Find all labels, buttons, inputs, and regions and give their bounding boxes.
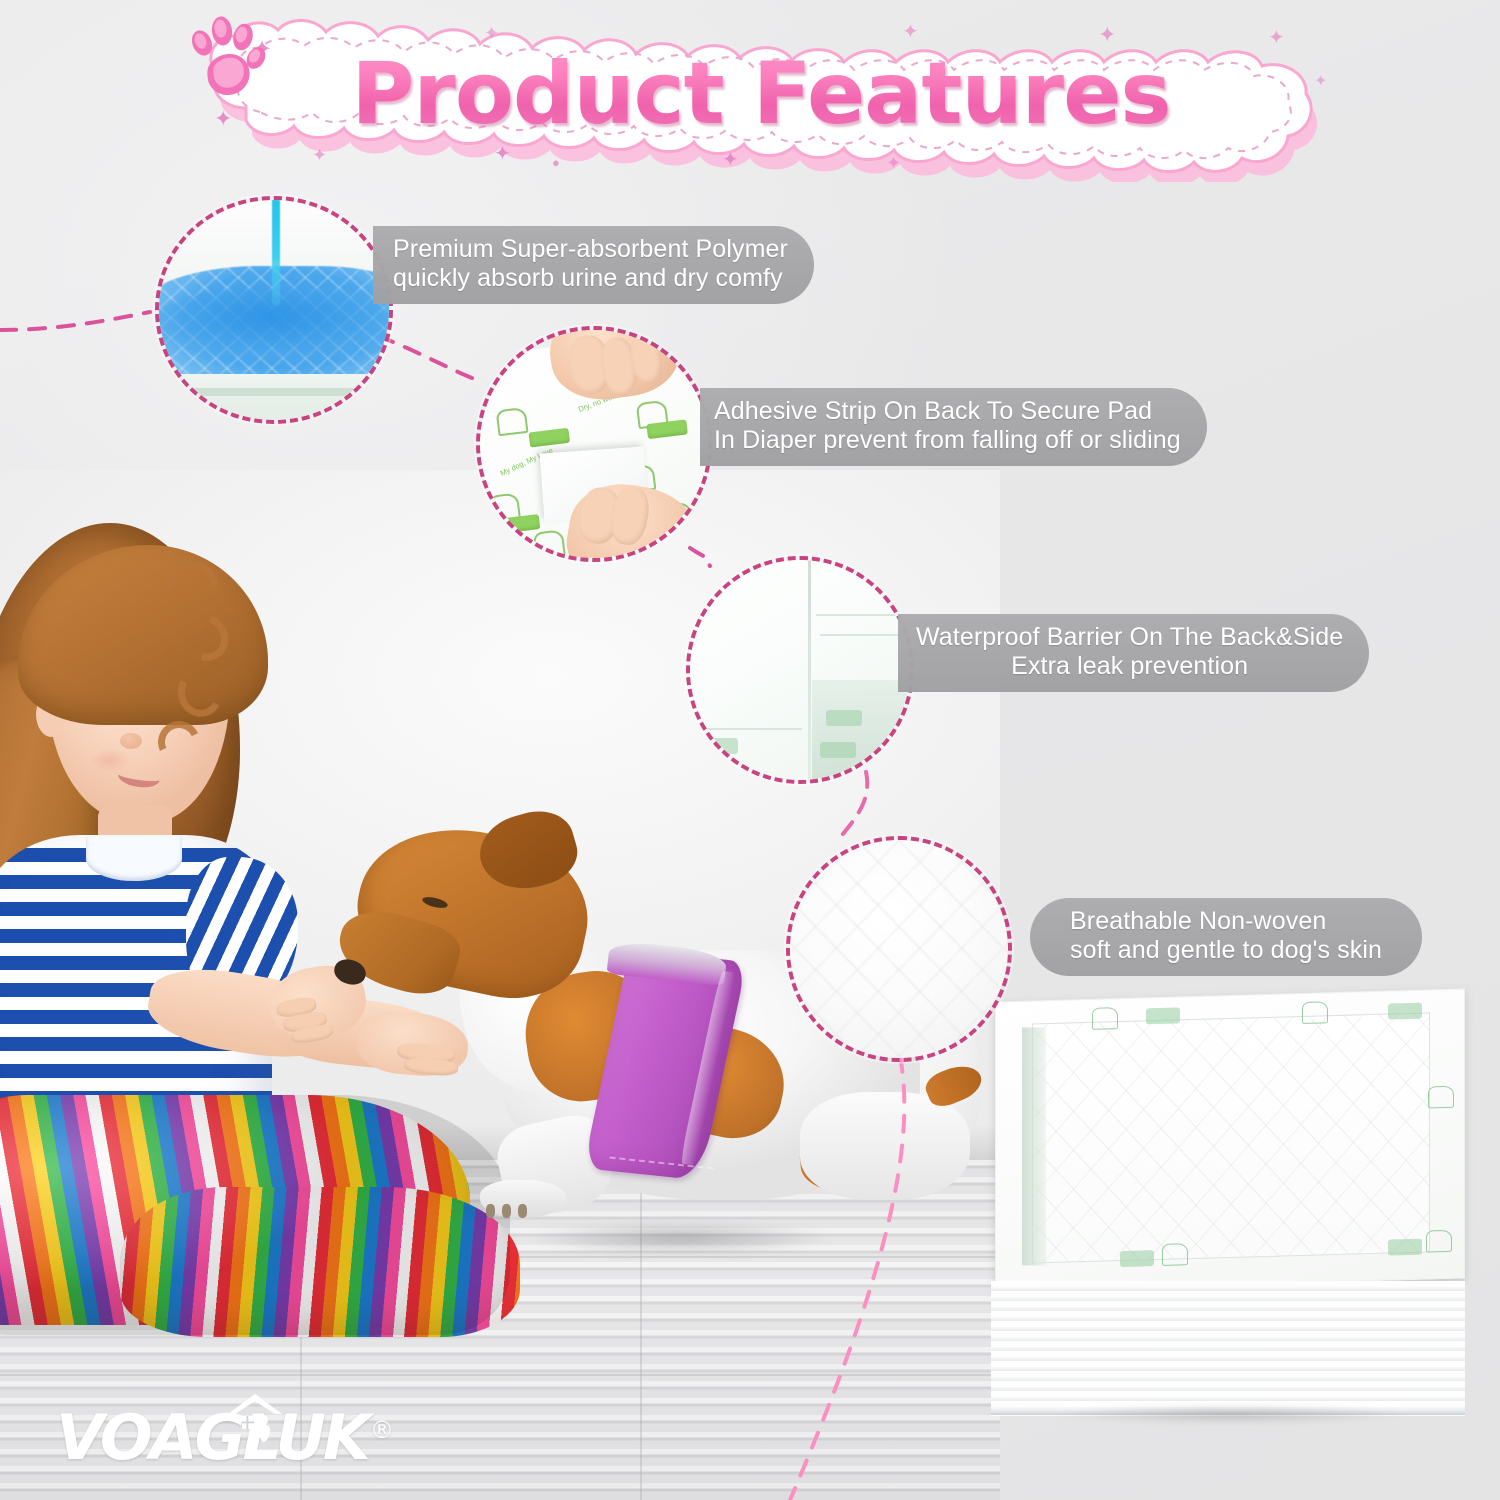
feature-photo-absorbent-polymer xyxy=(155,196,393,424)
brand-logo: VOAGLUK ® xyxy=(56,1392,356,1474)
pad-side-barrier xyxy=(812,680,910,780)
callout-line-1: Breathable Non-woven xyxy=(1070,907,1326,935)
callout-line-1: Waterproof Barrier On The Back&Side xyxy=(916,623,1343,651)
pad-fold-line xyxy=(808,560,811,780)
feature-photo-breathable-nonwoven xyxy=(786,836,1012,1062)
pad-base-layer xyxy=(159,374,389,420)
pad-print-tag xyxy=(1146,1007,1180,1024)
paw-print-icon xyxy=(182,16,268,98)
pad-print-tag xyxy=(820,742,856,758)
dog-hind-leg xyxy=(800,1092,970,1200)
callout-line-1: Adhesive Strip On Back To Secure Pad xyxy=(714,397,1152,425)
header-banner: ✦ ✦ ✦ ✦ ✦ ● ✦ ✦ ✦ ✦ ✦ ✦ Product Features xyxy=(186,16,1336,182)
registered-trademark-symbol: ® xyxy=(370,1416,394,1444)
pad-print-tag xyxy=(702,738,738,754)
pad-print-tag xyxy=(826,710,862,726)
callout-absorbent-polymer: Premium Super-absorbent Polymer quickly … xyxy=(373,226,814,304)
pad-quilted-center xyxy=(1032,1012,1430,1263)
dog-claw xyxy=(502,1204,511,1218)
pad-print-dog-icon xyxy=(1302,1001,1328,1024)
banner-title-row: Product Features xyxy=(186,16,1336,182)
callout-breathable-nonwoven: Breathable Non-woven soft and gentle to … xyxy=(1030,898,1422,976)
pad-stack-product xyxy=(985,995,1475,1420)
print-dog-icon xyxy=(533,529,566,558)
feature-photo-adhesive-strip: My dog, My Love Dry, no wet! Feel Dri-te… xyxy=(476,326,712,562)
print-tag xyxy=(528,428,570,448)
callout-line-2: In Diaper prevent from falling off or sl… xyxy=(714,426,1181,455)
dog-claw xyxy=(518,1204,527,1218)
dog-claw xyxy=(486,1204,495,1218)
callout-line-1: Premium Super-absorbent Polymer xyxy=(393,235,788,263)
infographic-canvas: My dog, My Love Dry, no wet! Feel Dri-te… xyxy=(0,0,1500,1500)
pad-print-dog-icon xyxy=(1426,1230,1452,1253)
pad-print-tag xyxy=(1388,1003,1422,1020)
pad-print-tag xyxy=(1120,1250,1154,1267)
feature-photo-waterproof-barrier xyxy=(686,556,914,784)
house-roof-paw-icon xyxy=(224,1390,286,1448)
pad-crease xyxy=(816,614,910,616)
pad-crease xyxy=(820,634,908,636)
pad-adhesive-strip xyxy=(1022,1027,1046,1265)
pad-print-dog-icon xyxy=(1092,1007,1118,1030)
callout-line-2: Extra leak prevention xyxy=(916,652,1343,681)
callout-adhesive-strip: Adhesive Strip On Back To Secure Pad In … xyxy=(700,388,1207,466)
stack-shadow xyxy=(985,1403,1477,1431)
brand-name: VOAGLUK xyxy=(56,1401,368,1474)
girl-nose xyxy=(120,733,142,749)
top-pad xyxy=(995,988,1465,1291)
callout-line-2: soft and gentle to dog's skin xyxy=(1070,936,1382,965)
pad-print-dog-icon xyxy=(1428,1086,1454,1109)
girl-collar xyxy=(86,837,182,881)
print-dog-icon xyxy=(496,407,529,436)
pad-print-dog-icon xyxy=(1162,1243,1188,1266)
nonwoven-texture xyxy=(790,840,1008,1058)
page-title: Product Features xyxy=(351,44,1170,144)
callout-line-2: quickly absorb urine and dry comfy xyxy=(393,264,788,293)
pad-crease xyxy=(698,728,802,730)
pad-print-tag xyxy=(1388,1239,1422,1256)
pouring-liquid-stream xyxy=(272,200,280,306)
callout-waterproof-barrier: Waterproof Barrier On The Back&Side Extr… xyxy=(898,614,1369,692)
